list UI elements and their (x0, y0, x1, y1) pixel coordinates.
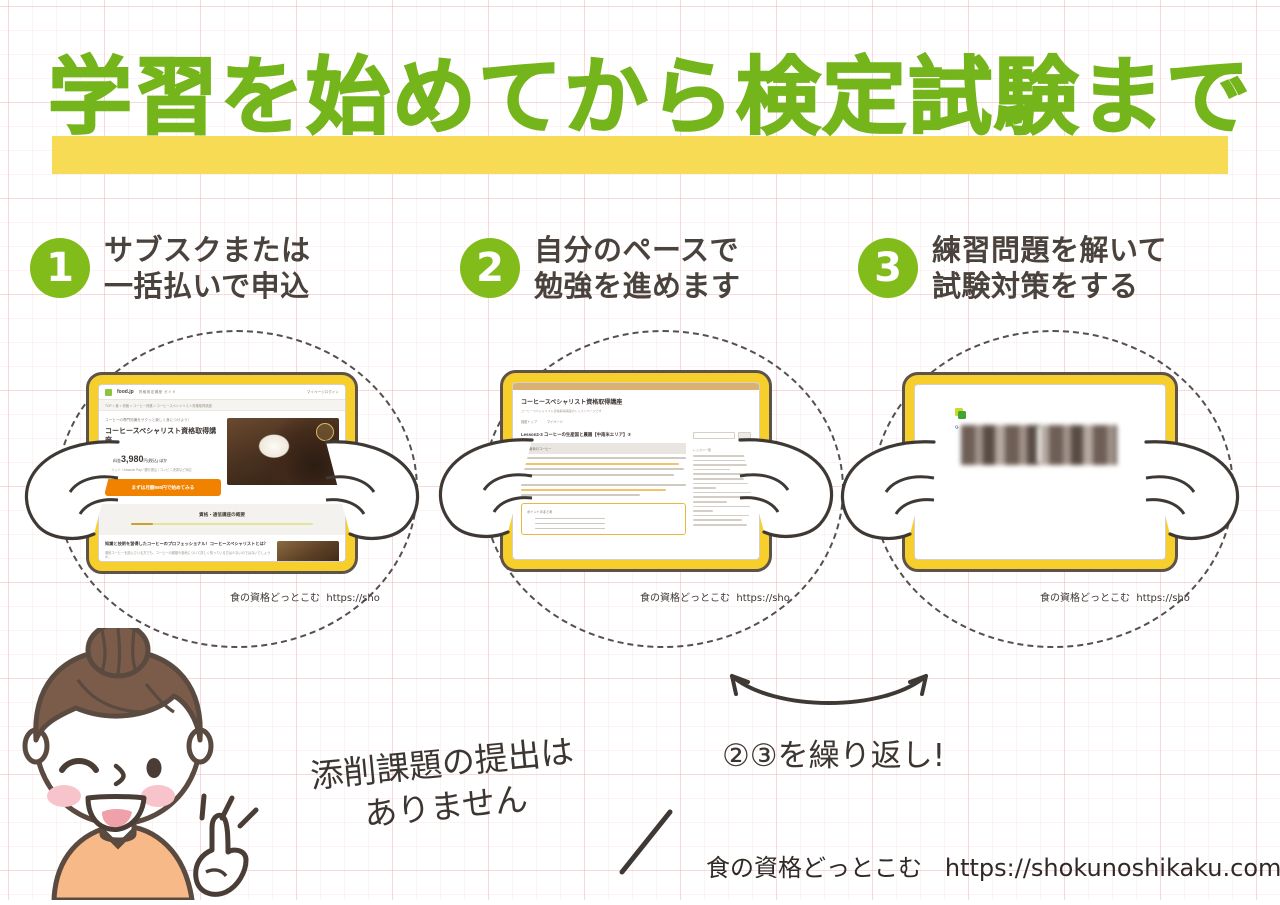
tablet-caption-2: 食の資格どっとこむ https://sho (640, 589, 790, 604)
sidebar-item[interactable] (693, 496, 745, 498)
course-overview-section: 資格・通信講座の概要 (99, 504, 345, 535)
step-text-1-line1: サブスクまたは (104, 232, 311, 268)
lesson-summary-box: ポイントのまとめ (521, 503, 686, 535)
lesson-section-label: 中南米のコーヒー (526, 446, 552, 451)
sidebar-item[interactable] (693, 519, 742, 521)
lesson-sidebar: レッスン一覧 (693, 432, 751, 535)
credit-url: https://shokunoshikaku.com/ (945, 854, 1280, 882)
quiz-card: Q. (951, 403, 1127, 471)
infographic-canvas: 学習を始めてから検定試験まで 1 サブスクまたは 一括払いで申込 2 自分のペー… (0, 0, 1280, 900)
lesson-page: コーヒースペシャリスト資格取得講座 コーヒースペシャリスト資格取得講座のレッスン… (513, 390, 759, 535)
login-link[interactable]: マイページログイン (307, 390, 339, 395)
lesson-summary-item (535, 518, 605, 520)
sidebar-item[interactable] (693, 464, 749, 466)
lesson-text-line-highlight (521, 463, 679, 465)
lesson-summary-item (535, 523, 605, 525)
step-text-1-line2: 一括払いで申込 (104, 268, 311, 304)
step-header-1: 1 サブスクまたは 一括払いで申込 (30, 232, 311, 304)
lesson-text-line (521, 474, 674, 476)
caption-url-1: https://sho (326, 593, 380, 604)
caption-name-3: 食の資格どっとこむ (1040, 593, 1130, 604)
lesson-text-line (521, 494, 640, 496)
price-value: 3,980 (121, 454, 144, 464)
course-hero-section: コーヒーの専門知識をサクッと楽しく身につけよう！ コーヒースペシャリスト資格取得… (99, 411, 345, 496)
caption-url-2: https://sho (736, 593, 790, 604)
sidebar-item[interactable] (693, 455, 751, 457)
sidebar-item[interactable] (693, 487, 716, 489)
step-text-2: 自分のペースで 勉強を進めます (534, 232, 741, 304)
tablet-screen-2: コーヒースペシャリスト資格取得講座 コーヒースペシャリスト資格取得講座のレッスン… (512, 382, 760, 560)
repeat-label: ②③を繰り返し! (722, 730, 945, 775)
step-header-2: 2 自分のペースで 勉強を進めます (460, 232, 741, 304)
caption-name-1: 食の資格どっとこむ (230, 593, 320, 604)
lesson-course-heading: コーヒースペシャリスト資格取得講座 (521, 397, 751, 406)
lesson-body: Lesson2-3 コーヒーの生産国と農園【中南米エリア】③ 中南米のコーヒー (521, 432, 751, 535)
step-badge-1: 1 (30, 238, 90, 298)
note-pointer-stroke-icon (612, 806, 682, 887)
article-text-column: 知識と技術を習得したコーヒーのプロフェッショナル！コーヒースペシャリストとは？ … (105, 541, 272, 562)
tablet-screen-1: food.jp 資格検定講座 ガイド マイページログイン TOP > 食 > 資… (98, 384, 346, 562)
tablet-frame-3: Q. (902, 372, 1178, 572)
sidebar-item[interactable] (693, 460, 746, 462)
sidebar-item[interactable] (693, 469, 730, 471)
credit-name: 食の資格どっとこむ (706, 854, 922, 882)
payment-note: クレジット / Amazon Pay / 銀行振込 / コンビニ決済など対応 (105, 467, 221, 472)
overview-progress-bar (131, 523, 313, 525)
lesson-text-line (521, 468, 684, 470)
lesson-main-column: Lesson2-3 コーヒーの生産国と農園【中南米エリア】③ 中南米のコーヒー (521, 432, 686, 535)
winking-woman-illustration (6, 628, 286, 905)
blurred-quiz-content (961, 425, 1117, 465)
logo-square-green (958, 411, 966, 419)
breadcrumb: TOP > 食 > 資格 > コーヒー資格 > コーヒースペシャリスト資格取得講… (99, 400, 345, 411)
cta-button[interactable]: まずは月額980円で始めてみる (105, 479, 221, 496)
site-header: food.jp 資格検定講座 ガイド マイページログイン (99, 385, 345, 400)
sidebar-item[interactable] (693, 524, 747, 526)
lesson-tabs: 講座トップ マイページ (521, 419, 751, 424)
lesson-course-subheading: コーヒースペシャリスト資格取得講座のレッスンページです (521, 409, 751, 413)
step-text-1: サブスクまたは 一括払いで申込 (104, 232, 311, 304)
step-text-2-line1: 自分のペースで (534, 232, 741, 268)
site-logo-text: food.jp (117, 389, 134, 395)
step-text-2-line2: 勉強を進めます (534, 268, 741, 304)
caption-name-2: 食の資格どっとこむ (640, 593, 730, 604)
coffee-hero-image (227, 418, 339, 485)
lesson-title: Lesson2-3 コーヒーの生産国と農園【中南米エリア】③ (521, 432, 686, 438)
site-logo-icon (105, 389, 112, 396)
course-price: 月額料金3,980円(税込) ほか (105, 454, 221, 464)
repeat-arrow-icon (714, 668, 944, 723)
sidebar-item[interactable] (693, 483, 748, 485)
article-heading: 知識と技術を習得したコーヒーのプロフェッショナル！コーヒースペシャリストとは？ (105, 541, 272, 547)
tablet-caption-3: 食の資格どっとこむ https://sho (1040, 589, 1190, 604)
food-logo-icon (955, 408, 966, 419)
question-marker: Q. (955, 424, 959, 429)
credit-line: 食の資格どっとこむ https://shokunoshikaku.com/ (706, 848, 1280, 883)
lesson-text-line (521, 457, 686, 459)
lesson-summary-title: ポイントのまとめ (527, 509, 680, 514)
sidebar-item[interactable] (693, 501, 727, 503)
sidebar-search (693, 432, 751, 439)
tablet-caption-1: 食の資格どっとこむ https://sho (230, 589, 380, 604)
step-text-3: 練習問題を解いて 試験対策をする (932, 232, 1167, 304)
tablet-frame-2: コーヒースペシャリスト資格取得講座 コーヒースペシャリスト資格取得講座のレッスン… (500, 370, 772, 572)
lesson-section-label-bar: 中南米のコーヒー (521, 443, 686, 454)
course-info-column: コーヒーの専門知識をサクッと楽しく身につけよう！ コーヒースペシャリスト資格取得… (105, 418, 221, 496)
lesson-text-line (521, 484, 686, 486)
tablet-frame-1: food.jp 資格検定講座 ガイド マイページログイン TOP > 食 > 資… (86, 372, 358, 574)
sidebar-item[interactable] (693, 473, 751, 475)
overview-title: 資格・通信講座の概要 (105, 512, 339, 518)
lesson-summary-item (535, 528, 605, 530)
lesson-top-banner (513, 383, 759, 390)
sidebar-item[interactable] (693, 515, 749, 517)
search-input[interactable] (693, 432, 735, 439)
handwritten-note: 添削課題の提出は ありません (308, 730, 579, 841)
caption-url-3: https://sho (1136, 593, 1190, 604)
step-badge-2: 2 (460, 238, 520, 298)
article-paragraph: 普段コーヒーを飲んでいる方でも、コーヒーの種類や産地について詳しく知っている方は… (105, 551, 272, 560)
sidebar-item[interactable] (693, 492, 751, 494)
sidebar-item[interactable] (693, 510, 713, 512)
step-header-3: 3 練習問題を解いて 試験対策をする (858, 232, 1167, 304)
lesson-text-line-highlight (521, 489, 666, 491)
tab-course-top[interactable]: 講座トップ (521, 419, 537, 424)
tab-mypage[interactable]: マイページ (547, 419, 563, 424)
sidebar-item[interactable] (693, 506, 750, 508)
step-text-3-line1: 練習問題を解いて (932, 232, 1167, 268)
sidebar-heading: レッスン一覧 (693, 448, 751, 452)
search-button[interactable] (738, 432, 751, 439)
tablet-device-1: food.jp 資格検定講座 ガイド マイページログイン TOP > 食 > 資… (86, 372, 358, 574)
course-eyebrow: コーヒーの専門知識をサクッと楽しく身につけよう！ (105, 418, 221, 423)
price-suffix: 円(税込) ほか (144, 458, 168, 463)
site-nav[interactable]: 資格検定講座 ガイド (139, 390, 176, 395)
price-prefix: 月額料金 (105, 458, 121, 463)
page-title: 学習を始めてから検定試験まで (48, 44, 1248, 154)
tablet-device-2: コーヒースペシャリスト資格取得講座 コーヒースペシャリスト資格取得講座のレッスン… (500, 370, 772, 572)
sidebar-item[interactable] (693, 478, 744, 480)
article-preview: 知識と技術を習得したコーヒーのプロフェッショナル！コーヒースペシャリストとは？ … (99, 535, 345, 562)
tablet-device-3: Q. (902, 372, 1178, 572)
tablet-screen-3: Q. (914, 384, 1166, 560)
step-badge-3: 3 (858, 238, 918, 298)
article-thumbnail (277, 541, 339, 562)
course-heading: コーヒースペシャリスト資格取得講座 (105, 427, 221, 445)
step-text-3-line2: 試験対策をする (932, 268, 1167, 304)
